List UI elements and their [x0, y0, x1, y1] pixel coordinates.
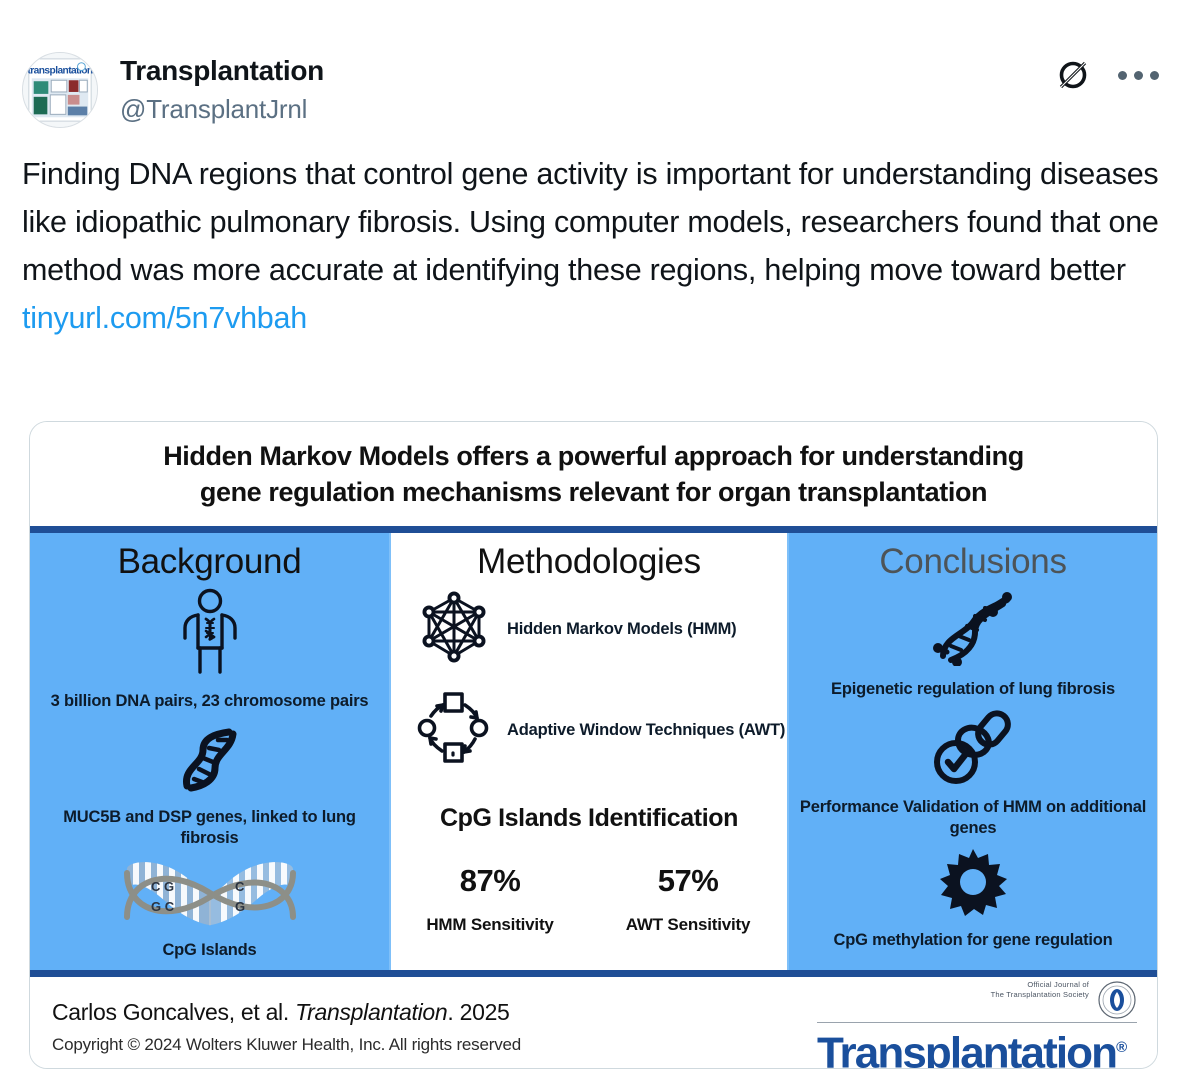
infographic-columns: Background	[30, 533, 1157, 970]
cpg-stats-heading: CpG Islands Identification	[391, 804, 787, 833]
display-name[interactable]: Transplantation	[120, 54, 324, 88]
citation: Carlos Goncalves, et al. Transplantation…	[52, 999, 521, 1026]
dot	[1118, 71, 1127, 80]
citation-author: Carlos Goncalves, et al.	[52, 999, 295, 1025]
account-name-block: Transplantation @TransplantJrnl	[120, 52, 324, 126]
column-methodologies: Methodologies	[389, 533, 789, 970]
stat-label-hmm: HMM Sensitivity	[391, 915, 589, 935]
header-actions	[1056, 58, 1161, 92]
gear-icon	[938, 847, 1008, 922]
journal-logo: Official Journal of The Transplantation …	[817, 976, 1137, 1069]
stat-hmm: 87% HMM Sensitivity	[391, 863, 589, 935]
svg-text:G: G	[235, 899, 245, 914]
adaptive-window-cycle-icon	[417, 691, 491, 770]
method-label-awt: Adaptive Window Techniques (AWT)	[507, 721, 785, 740]
cpg-stats: 87% HMM Sensitivity 57% AWT Sensitivity	[391, 863, 787, 935]
citation-year: . 2025	[447, 999, 509, 1025]
column-heading-background: Background	[30, 533, 389, 584]
method-label-hmm: Hidden Markov Models (HMM)	[507, 620, 736, 639]
dna-helix-icon	[173, 724, 247, 799]
infographic-title-line2: gene regulation mechanisms relevant for …	[200, 474, 987, 510]
registered-mark: ®	[1116, 1039, 1125, 1056]
society-seal-icon	[1097, 980, 1137, 1020]
cpg-island-helix-icon: C G G C C G	[121, 859, 299, 936]
stamp-check-icon	[930, 710, 1016, 791]
conclusions-body: Epigenetic regulation of lung fibrosis P…	[789, 584, 1157, 951]
journal-logo-rule	[817, 1022, 1137, 1023]
column-background: Background	[30, 533, 389, 970]
grok-icon[interactable]	[1056, 58, 1090, 92]
journal-logo-top: Official Journal of The Transplantation …	[817, 980, 1137, 1020]
journal-logo-smalltext: Official Journal of The Transplantation …	[991, 980, 1089, 1000]
conclusions-caption-1: Epigenetic regulation of lung fibrosis	[821, 679, 1125, 700]
column-conclusions: Conclusions	[789, 533, 1157, 970]
tweet-media-infographic[interactable]: Hidden Markov Models offers a powerful a…	[29, 421, 1158, 1069]
background-body: 3 billion DNA pairs, 23 chromosome pairs	[30, 584, 389, 970]
conclusions-caption-2: Performance Validation of HMM on additio…	[789, 797, 1157, 839]
stat-value-hmm: 87%	[391, 863, 589, 899]
tweet-body: Finding DNA regions that control gene ac…	[22, 157, 1159, 287]
svg-text:G C: G C	[151, 899, 175, 914]
background-caption-2: MUC5B and DSP genes, linked to lung fibr…	[30, 807, 389, 849]
tweet-header: transplantation Transplantation @Transpl…	[0, 0, 1187, 128]
tweet-text: Finding DNA regions that control gene ac…	[0, 128, 1187, 342]
journal-logo-wordmark: Transplantation®	[817, 1025, 1137, 1069]
dot	[1134, 71, 1143, 80]
copyright-text: Copyright © 2024 Wolters Kluwer Health, …	[52, 1035, 521, 1055]
citation-journal: Transplantation	[295, 999, 447, 1025]
column-heading-conclusions: Conclusions	[789, 533, 1157, 584]
journal-logo-word: Transplantation	[817, 1029, 1116, 1069]
citation-block: Carlos Goncalves, et al. Transplantation…	[52, 999, 521, 1055]
infographic-title: Hidden Markov Models offers a powerful a…	[30, 422, 1157, 526]
background-caption-3: CpG Islands	[152, 940, 266, 961]
more-options-icon[interactable]	[1116, 65, 1161, 86]
tweet-card: transplantation Transplantation @Transpl…	[0, 0, 1187, 1089]
avatar[interactable]: transplantation	[22, 52, 98, 128]
stat-label-awt: AWT Sensitivity	[589, 915, 787, 935]
dot	[1150, 71, 1159, 80]
method-row-hmm: Hidden Markov Models (HMM)	[391, 590, 787, 669]
infographic-footer: Carlos Goncalves, et al. Transplantation…	[30, 977, 1157, 1069]
method-row-awt: Adaptive Window Techniques (AWT)	[391, 691, 787, 770]
infographic-title-line1: Hidden Markov Models offers a powerful a…	[163, 438, 1024, 474]
journal-logo-line1: Official Journal of	[991, 980, 1089, 990]
journal-logo-line2: The Transplantation Society	[991, 990, 1089, 1000]
dna-epigenetic-icon	[921, 588, 1025, 671]
conclusions-caption-3: CpG methylation for gene regulation	[823, 930, 1122, 951]
network-graph-icon	[417, 590, 491, 669]
background-caption-1: 3 billion DNA pairs, 23 chromosome pairs	[41, 691, 379, 712]
account-handle[interactable]: @TransplantJrnl	[120, 92, 324, 126]
stat-value-awt: 57%	[589, 863, 787, 899]
svg-text:C G: C G	[151, 879, 174, 894]
tweet-link[interactable]: tinyurl.com/5n7vhbah	[22, 301, 307, 335]
divider-top	[30, 526, 1157, 533]
svg-text:C: C	[235, 879, 245, 894]
stat-awt: 57% AWT Sensitivity	[589, 863, 787, 935]
column-heading-methodologies: Methodologies	[391, 533, 787, 584]
human-dna-figure-icon	[180, 588, 240, 681]
